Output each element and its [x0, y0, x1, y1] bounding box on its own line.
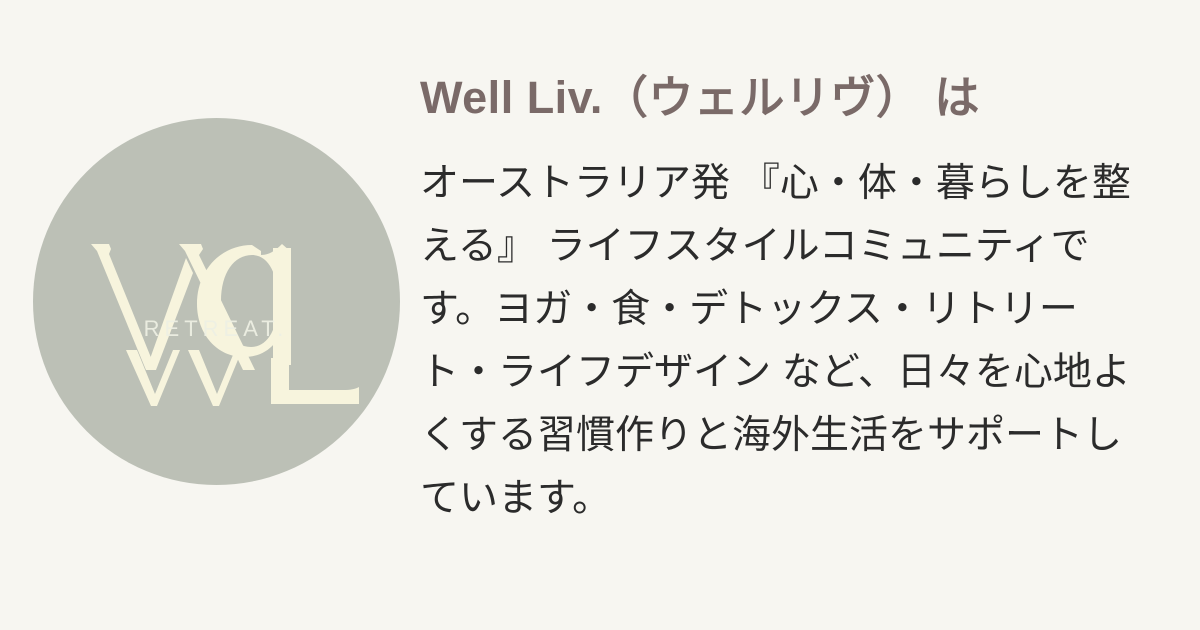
page-title: Well Liv.（ウェルリヴ） は — [420, 70, 1150, 126]
logo-circle-background: RETREAT. — [33, 118, 400, 485]
logo-retreat-label: RETREAT. — [144, 316, 289, 341]
logo-container: RETREAT. — [33, 118, 400, 485]
description-paragraph: オーストラリア発 『心・体・暮らしを整える』 ライフスタイルコミュニティです。ヨ… — [420, 152, 1150, 530]
promo-card: RETREAT. Well Liv.（ウェルリヴ） は オーストラリア発 『心・… — [0, 0, 1200, 630]
text-column: Well Liv.（ウェルリヴ） は オーストラリア発 『心・体・暮らしを整える… — [420, 70, 1150, 530]
well-liv-retreat-logo-icon: RETREAT. — [33, 118, 400, 485]
